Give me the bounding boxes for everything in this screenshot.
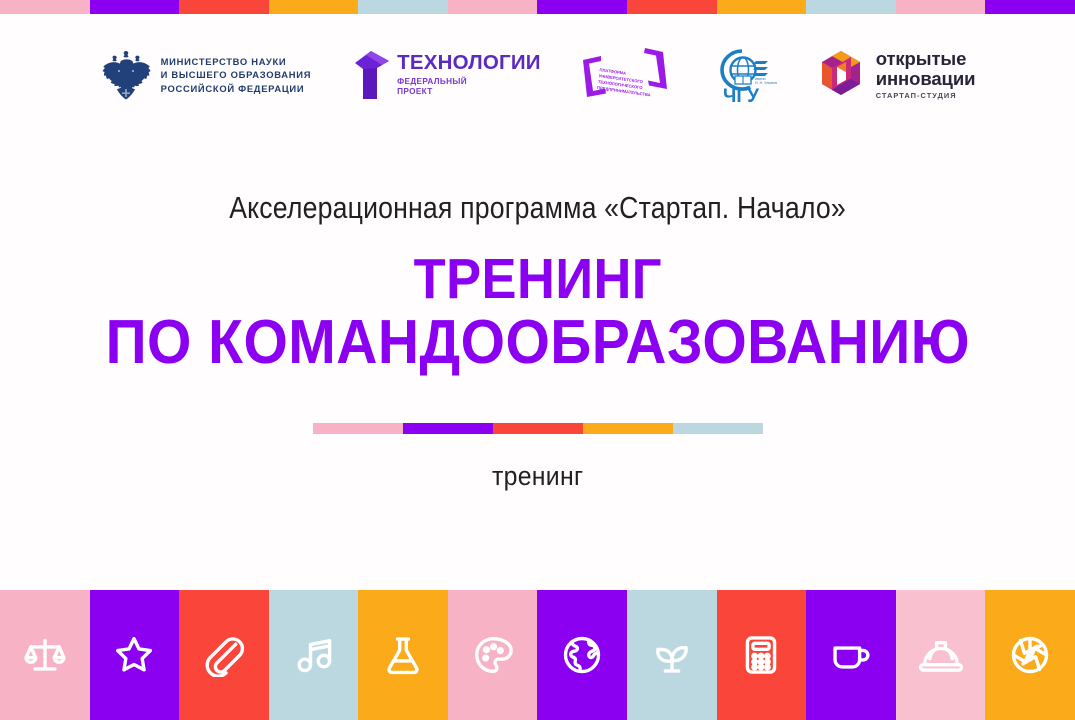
paint-palette-icon (471, 633, 515, 677)
logo-ministry-line-3: РОССИЙСКОЙ ФЕДЕРАЦИИ (161, 82, 312, 95)
logo-federal-project-technologies: ТЕХНОЛОГИИ ФЕДЕРАЛЬНЫЙ ПРОЕКТ (349, 49, 541, 101)
stripe-band (985, 0, 1075, 14)
logo-oi-caption: СТАРТАП-СТУДИЯ (876, 92, 976, 99)
logo-tech-title: ТЕХНОЛОГИИ (397, 53, 541, 74)
hard-hat-icon (919, 633, 963, 677)
icon-tile (90, 590, 180, 720)
icon-tile (627, 590, 717, 720)
icon-tile (448, 590, 538, 720)
stripe-band (269, 0, 359, 14)
stripe-band (448, 0, 538, 14)
stripe-band (90, 0, 180, 14)
logo-oi-title-line-2: инновации (876, 70, 976, 89)
icon-tile (806, 590, 896, 720)
paperclip-icon (202, 633, 246, 677)
slide-subtitle: тренинг (492, 461, 583, 492)
top-color-stripe (0, 0, 1075, 14)
svg-text:ЧГУ: ЧГУ (723, 86, 759, 105)
headline-line-1: ТРЕНИНГ (105, 252, 969, 306)
square-brackets-icon: ПЛАТФОРМА УНИВЕРСИТЕТСКОГО ТЕХНОЛОГИЧЕСК… (579, 44, 667, 106)
logo-ministry-of-science: МИНИСТЕРСТВО НАУКИ И ВЫСШЕГО ОБРАЗОВАНИЯ… (100, 47, 312, 103)
logo-tech-subtitle-line-2: ПРОЕКТ (397, 87, 432, 96)
divider-band (583, 423, 673, 434)
icon-tile (896, 590, 986, 720)
sprout-icon (650, 633, 694, 677)
logo-open-innovations-startup-studio: открытые инновации СТАРТАП-СТУДИЯ (815, 49, 976, 101)
logo-oi-title-line-1: открытые (876, 50, 976, 69)
bottom-icon-band (0, 590, 1075, 720)
logo-university-tech-entrepreneurship-platform: ПЛАТФОРМА УНИВЕРСИТЕТСКОГО ТЕХНОЛОГИЧЕСК… (579, 44, 667, 106)
icon-tile (269, 590, 359, 720)
icon-tile (179, 590, 269, 720)
stripe-band (627, 0, 717, 14)
presentation-slide: МИНИСТЕРСТВО НАУКИ И ВЫСШЕГО ОБРАЗОВАНИЯ… (0, 0, 1075, 720)
icon-tile (0, 590, 90, 720)
globe-icon (560, 633, 604, 677)
divider-band (403, 423, 493, 434)
slide-headline: ТРЕНИНГ ПО КОМАНДООБРАЗОВАНИЮ (68, 252, 1008, 373)
russian-coat-of-arms-eagle-icon (100, 47, 152, 103)
divider-band (313, 423, 403, 434)
coffee-cup-icon (829, 633, 873, 677)
divider-band (493, 423, 583, 434)
svg-text:И. Н. Ульянова: И. Н. Ульянова (755, 81, 777, 85)
icon-tile (358, 590, 448, 720)
star-icon (112, 633, 156, 677)
logo-tech-subtitle: ФЕДЕРАЛЬНЫЙ ПРОЕКТ (397, 77, 541, 97)
program-name: Акселерационная программа «Стартап. Нача… (229, 190, 846, 226)
divider-band (673, 423, 763, 434)
music-note-icon (292, 633, 336, 677)
arrow-up-mark-icon (349, 49, 393, 101)
globe-book-emblem-icon: имени И. Н. Ульянова ЧГУ (705, 45, 777, 105)
logo-tech-subtitle-line-1: ФЕДЕРАЛЬНЫЙ (397, 77, 467, 86)
icon-tile (985, 590, 1075, 720)
logo-chuvash-state-university: имени И. Н. Ульянова ЧГУ (705, 45, 777, 105)
logo-ministry-text: МИНИСТЕРСТВО НАУКИ И ВЫСШЕГО ОБРАЗОВАНИЯ… (161, 55, 312, 95)
calculator-icon (739, 633, 783, 677)
logo-open-innovations-text: открытые инновации СТАРТАП-СТУДИЯ (876, 50, 976, 99)
stripe-band (717, 0, 807, 14)
headline-line-2: ПО КОМАНДООБРАЗОВАНИЮ (105, 314, 969, 373)
slide-content: Акселерационная программа «Стартап. Нача… (0, 150, 1075, 530)
icon-tile (717, 590, 807, 720)
color-divider-bar (313, 423, 763, 434)
stripe-band (537, 0, 627, 14)
colorful-hexagon-icon (815, 49, 867, 101)
logo-ministry-line-1: МИНИСТЕРСТВО НАУКИ (161, 55, 312, 68)
scales-of-justice-icon (23, 633, 67, 677)
stripe-band (0, 0, 90, 14)
flask-icon (381, 633, 425, 677)
stripe-band (358, 0, 448, 14)
stripe-band (179, 0, 269, 14)
logo-ministry-line-2: И ВЫСШЕГО ОБРАЗОВАНИЯ (161, 68, 312, 81)
camera-aperture-icon (1008, 633, 1052, 677)
stripe-band (896, 0, 986, 14)
stripe-band (806, 0, 896, 14)
icon-tile (537, 590, 627, 720)
partner-logo-row: МИНИСТЕРСТВО НАУКИ И ВЫСШЕГО ОБРАЗОВАНИЯ… (0, 36, 1075, 114)
logo-tech-text: ТЕХНОЛОГИИ ФЕДЕРАЛЬНЫЙ ПРОЕКТ (397, 53, 541, 97)
